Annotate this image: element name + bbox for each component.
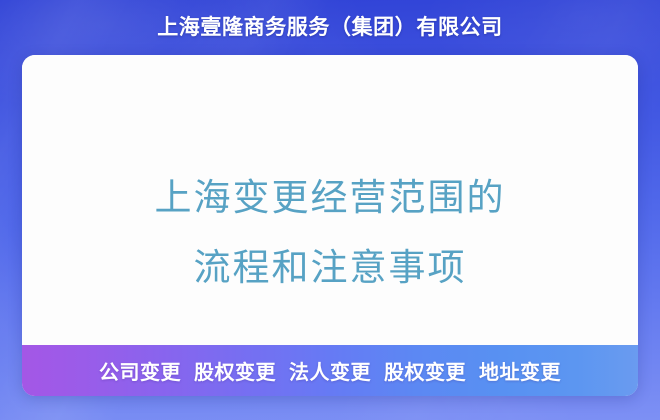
main-title-line-1: 上海变更经营范围的 xyxy=(22,163,638,233)
service-tag[interactable]: 地址变更 xyxy=(479,356,561,385)
service-tag[interactable]: 法人变更 xyxy=(289,356,371,385)
service-tag[interactable]: 股权变更 xyxy=(194,356,276,385)
service-tag-list: 公司变更 股权变更 法人变更 股权变更 地址变更 xyxy=(99,356,561,385)
service-tag[interactable]: 股权变更 xyxy=(384,356,466,385)
main-title-line-2: 流程和注意事项 xyxy=(22,233,638,303)
card-body: 上海变更经营范围的 流程和注意事项 xyxy=(22,55,638,345)
main-title: 上海变更经营范围的 流程和注意事项 xyxy=(22,163,638,303)
poster-banner: 上海壹隆商务服务（集团）有限公司 上海变更经营范围的 流程和注意事项 公司变更 … xyxy=(0,0,660,420)
content-card: 上海变更经营范围的 流程和注意事项 公司变更 股权变更 法人变更 股权变更 地址… xyxy=(22,55,638,396)
service-tag-bar: 公司变更 股权变更 法人变更 股权变更 地址变更 xyxy=(22,345,638,396)
service-tag[interactable]: 公司变更 xyxy=(99,356,181,385)
company-name-header: 上海壹隆商务服务（集团）有限公司 xyxy=(0,14,660,42)
